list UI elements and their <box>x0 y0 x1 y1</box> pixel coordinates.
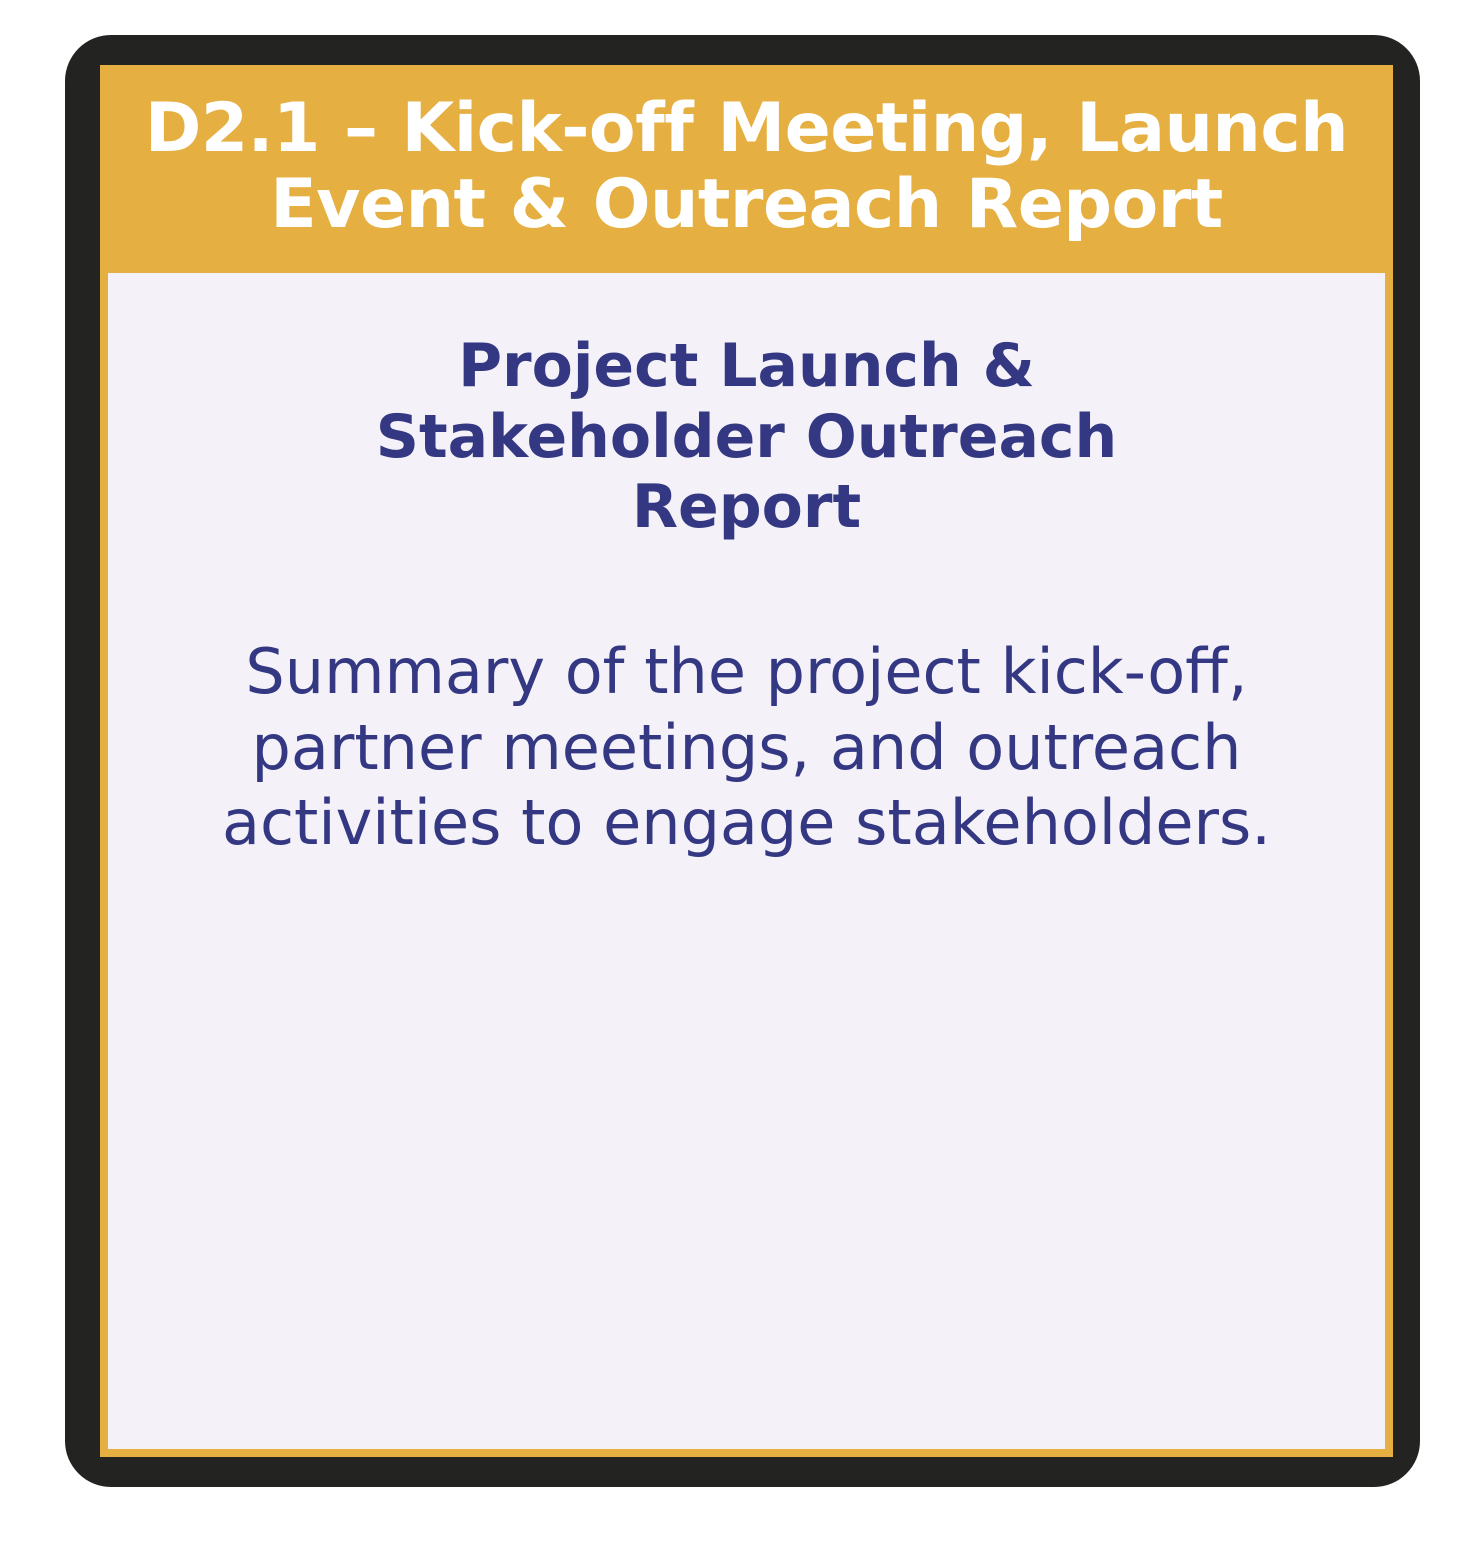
card-body-panel: Project Launch & Stakeholder Outreach Re… <box>100 273 1393 1457</box>
card-header-title: D2.1 – Kick-off Meeting, Launch Event & … <box>128 91 1365 243</box>
card-body-description: Summary of the project kick-off, partner… <box>172 634 1322 861</box>
card-header-band: D2.1 – Kick-off Meeting, Launch Event & … <box>100 65 1393 273</box>
deliverable-card: D2.1 – Kick-off Meeting, Launch Event & … <box>65 35 1420 1487</box>
screenshot-canvas: D2.1 – Kick-off Meeting, Launch Event & … <box>0 0 1479 1542</box>
card-body-title: Project Launch & Stakeholder Outreach Re… <box>317 331 1177 542</box>
